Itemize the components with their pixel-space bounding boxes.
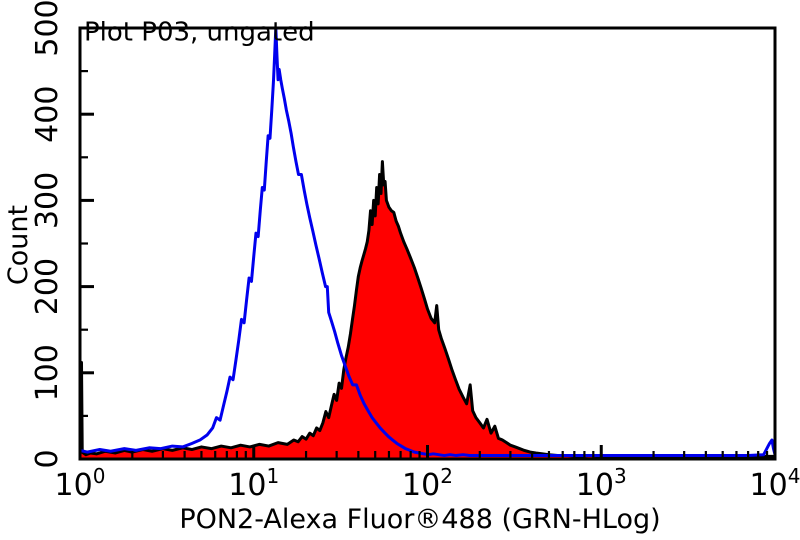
flow-cytometry-histogram-figure: 1001011021031040100200300400500 Plot P03… (0, 0, 800, 540)
y-tick-label: 400 (30, 86, 65, 143)
y-tick-label: 300 (30, 172, 65, 229)
y-tick-label: 200 (30, 258, 65, 315)
y-axis-title: Count (3, 205, 34, 285)
x-tick-label: 103 (576, 464, 627, 503)
x-tick-label: 100 (55, 464, 106, 503)
y-tick-label: 0 (30, 449, 65, 468)
y-tick-label: 500 (30, 0, 65, 57)
x-tick-label: 104 (750, 464, 800, 503)
plot-title: Plot P03, ungated (84, 17, 315, 47)
y-axis-title-text: Count (3, 205, 34, 285)
x-tick-label: 102 (402, 464, 453, 503)
histogram-canvas: 1001011021031040100200300400500 Plot P03… (0, 0, 800, 540)
x-tick-label: 101 (228, 464, 279, 503)
y-tick-label: 100 (30, 344, 65, 401)
x-axis-title: PON2-Alexa Fluor®488 (GRN-HLog) (179, 504, 660, 535)
